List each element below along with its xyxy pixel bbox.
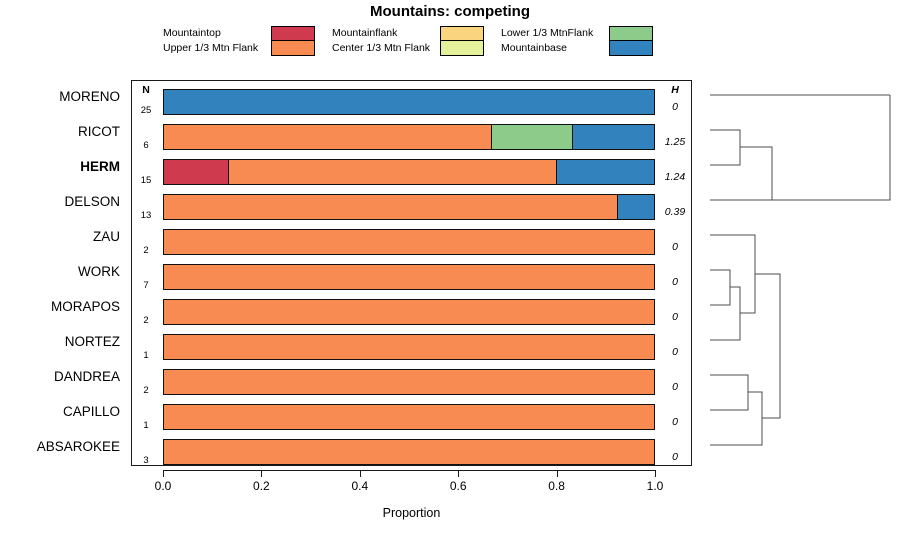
row-h-value: 0 (658, 241, 692, 253)
row-n-value: 13 (131, 210, 161, 221)
bar-segment (164, 370, 654, 394)
bar-segment (556, 160, 654, 184)
bar-segment (617, 195, 654, 219)
row-label: NORTEZ (0, 332, 120, 367)
row-n-value: 1 (131, 350, 161, 361)
row-h-value: 0 (658, 451, 692, 463)
bar-segment (164, 230, 654, 254)
row-n-value: 15 (131, 175, 161, 186)
stacked-bar[interactable] (163, 369, 655, 395)
bar-segment (164, 195, 617, 219)
x-tick (458, 470, 459, 477)
legend-item-label: Mountainflank (332, 26, 397, 41)
legend-item-label: Mountaintop (163, 26, 221, 41)
bar-segment (228, 160, 556, 184)
row-n-value: 2 (131, 385, 161, 396)
legend-item-label: Lower 1/3 MtnFlank (501, 26, 593, 41)
chart-canvas: Mountains: competing MountaintopUpper 1/… (0, 0, 900, 540)
row-label: WORK (0, 262, 120, 297)
row-n-value: 25 (131, 105, 161, 116)
x-tick-label: 0.0 (143, 479, 183, 493)
stacked-bar[interactable] (163, 264, 655, 290)
dendrogram (700, 80, 900, 470)
stacked-bar[interactable] (163, 159, 655, 185)
row-label: DELSON (0, 192, 120, 227)
bar-segment (572, 125, 654, 149)
row-h-value: 0 (658, 276, 692, 288)
x-tick (557, 470, 558, 477)
row-h-value: 1.25 (658, 136, 692, 148)
stacked-bar[interactable] (163, 89, 655, 115)
row-label: MORAPOS (0, 297, 120, 332)
x-axis-line (163, 470, 655, 471)
bar-segment (164, 265, 654, 289)
x-axis: 0.00.20.40.60.81.0 (131, 470, 692, 471)
stacked-bar[interactable] (163, 229, 655, 255)
x-tick (360, 470, 361, 477)
x-tick-label: 0.6 (438, 479, 478, 493)
bar-segment (164, 335, 654, 359)
legend-item-label: Upper 1/3 Mtn Flank (163, 41, 258, 56)
stacked-bar[interactable] (163, 124, 655, 150)
row-label: RICOT (0, 122, 120, 157)
row-label: ABSAROKEE (0, 437, 120, 472)
row-h-value: 0.39 (658, 206, 692, 218)
row-n-value: 6 (131, 140, 161, 151)
legend-item-label: Mountainbase (501, 41, 567, 56)
row-label: ZAU (0, 227, 120, 262)
bar-segment (164, 90, 654, 114)
row-n-value: 3 (131, 455, 161, 466)
legend-swatch (440, 26, 484, 41)
row-h-value: 1.24 (658, 171, 692, 183)
row-n-value: 1 (131, 420, 161, 431)
bar-segment (164, 440, 654, 464)
stacked-bar[interactable] (163, 299, 655, 325)
stacked-bar[interactable] (163, 334, 655, 360)
row-label: MORENO (0, 87, 120, 122)
stacked-bar[interactable] (163, 404, 655, 430)
bar-segment (491, 125, 572, 149)
row-h-value: 0 (658, 101, 692, 113)
page-title: Mountains: competing (0, 3, 900, 20)
row-label: HERM (0, 157, 120, 192)
legend-swatch (271, 41, 315, 56)
legend-swatch (440, 41, 484, 56)
x-tick (655, 470, 656, 477)
row-n-value: 2 (131, 245, 161, 256)
row-h-value: 0 (658, 346, 692, 358)
row-n-value: 2 (131, 315, 161, 326)
row-h-value: 0 (658, 381, 692, 393)
x-axis-label: Proportion (131, 506, 692, 520)
x-tick-label: 0.2 (241, 479, 281, 493)
row-label: DANDREA (0, 367, 120, 402)
row-h-value: 0 (658, 416, 692, 428)
stacked-bar[interactable] (163, 194, 655, 220)
x-tick-label: 0.4 (340, 479, 380, 493)
row-label: CAPILLO (0, 402, 120, 437)
bar-segment (164, 300, 654, 324)
bar-segment (164, 160, 228, 184)
bar-segment (164, 125, 491, 149)
row-n-value: 7 (131, 280, 161, 291)
x-tick (261, 470, 262, 477)
legend-swatch (271, 26, 315, 41)
x-tick-label: 0.8 (537, 479, 577, 493)
x-tick-label: 1.0 (635, 479, 675, 493)
legend-item-label: Center 1/3 Mtn Flank (332, 41, 430, 56)
stacked-bar[interactable] (163, 439, 655, 465)
bar-segment (164, 405, 654, 429)
legend-swatch (609, 41, 653, 56)
legend: MountaintopUpper 1/3 Mtn FlankMountainfl… (163, 26, 723, 58)
row-h-value: 0 (658, 311, 692, 323)
x-tick (163, 470, 164, 477)
legend-swatch (609, 26, 653, 41)
